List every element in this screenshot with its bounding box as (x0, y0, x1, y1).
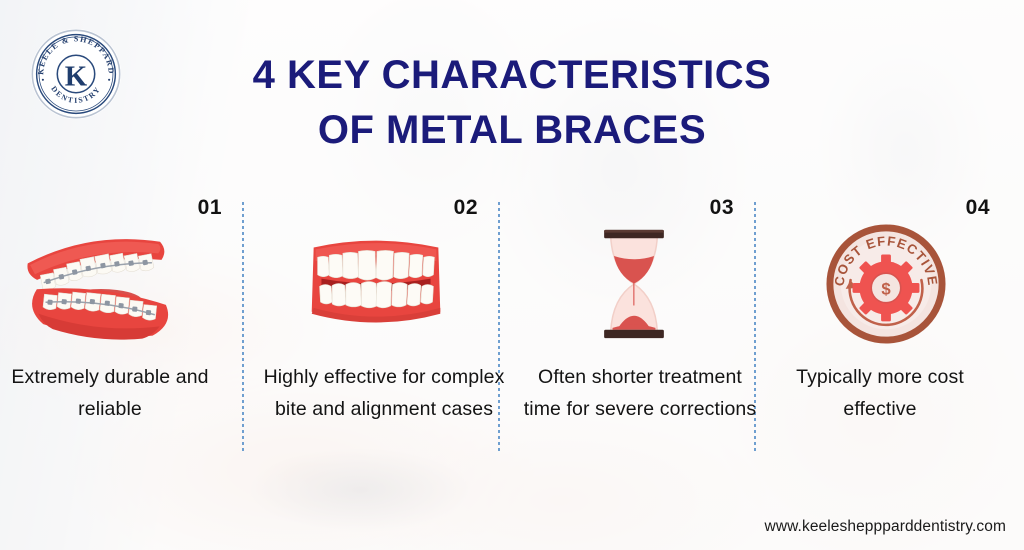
item-caption-4: Typically more cost effective (770, 362, 990, 425)
title-line-1: 4 KEY CHARACTERISTICS (0, 48, 1024, 103)
characteristic-item-1: 01 (0, 196, 256, 466)
dollar-sign-icon: $ (881, 279, 891, 298)
item-number-03: 03 (710, 196, 734, 220)
characteristic-item-3: 03 Often shorter treatm (512, 196, 768, 466)
item-caption-3: Often shorter treatment time for severe … (518, 362, 762, 425)
characteristics-row: 01 (0, 196, 1024, 466)
item-caption-1: Extremely durable and reliable (0, 362, 224, 425)
item-caption-2: Highly effective for complex bite and al… (260, 362, 508, 425)
column-divider-1 (242, 202, 244, 452)
item-number-02: 02 (454, 196, 478, 220)
website-url[interactable]: www.keelesheppparddentistry.com (765, 518, 1006, 536)
cost-effective-badge-icon: COST EFFECTIVE (758, 218, 1014, 350)
hourglass-icon (506, 218, 762, 350)
page-title: 4 KEY CHARACTERISTICS OF METAL BRACES (0, 48, 1024, 158)
open-mouth-braces-illustration (0, 218, 228, 350)
closed-teeth-illustration (248, 218, 504, 350)
logo-monogram: K (65, 61, 88, 93)
characteristic-item-4: 04 COST EFFECTIVE (768, 196, 1024, 466)
title-line-2: OF METAL BRACES (0, 103, 1024, 158)
brand-logo[interactable]: KEELE & SHEPPARD DENTISTRY K (28, 26, 124, 122)
item-number-04: 04 (966, 196, 990, 220)
item-number-01: 01 (198, 196, 222, 220)
characteristic-item-2: 02 (256, 196, 512, 466)
circular-seal-logo: KEELE & SHEPPARD DENTISTRY K (28, 26, 124, 122)
